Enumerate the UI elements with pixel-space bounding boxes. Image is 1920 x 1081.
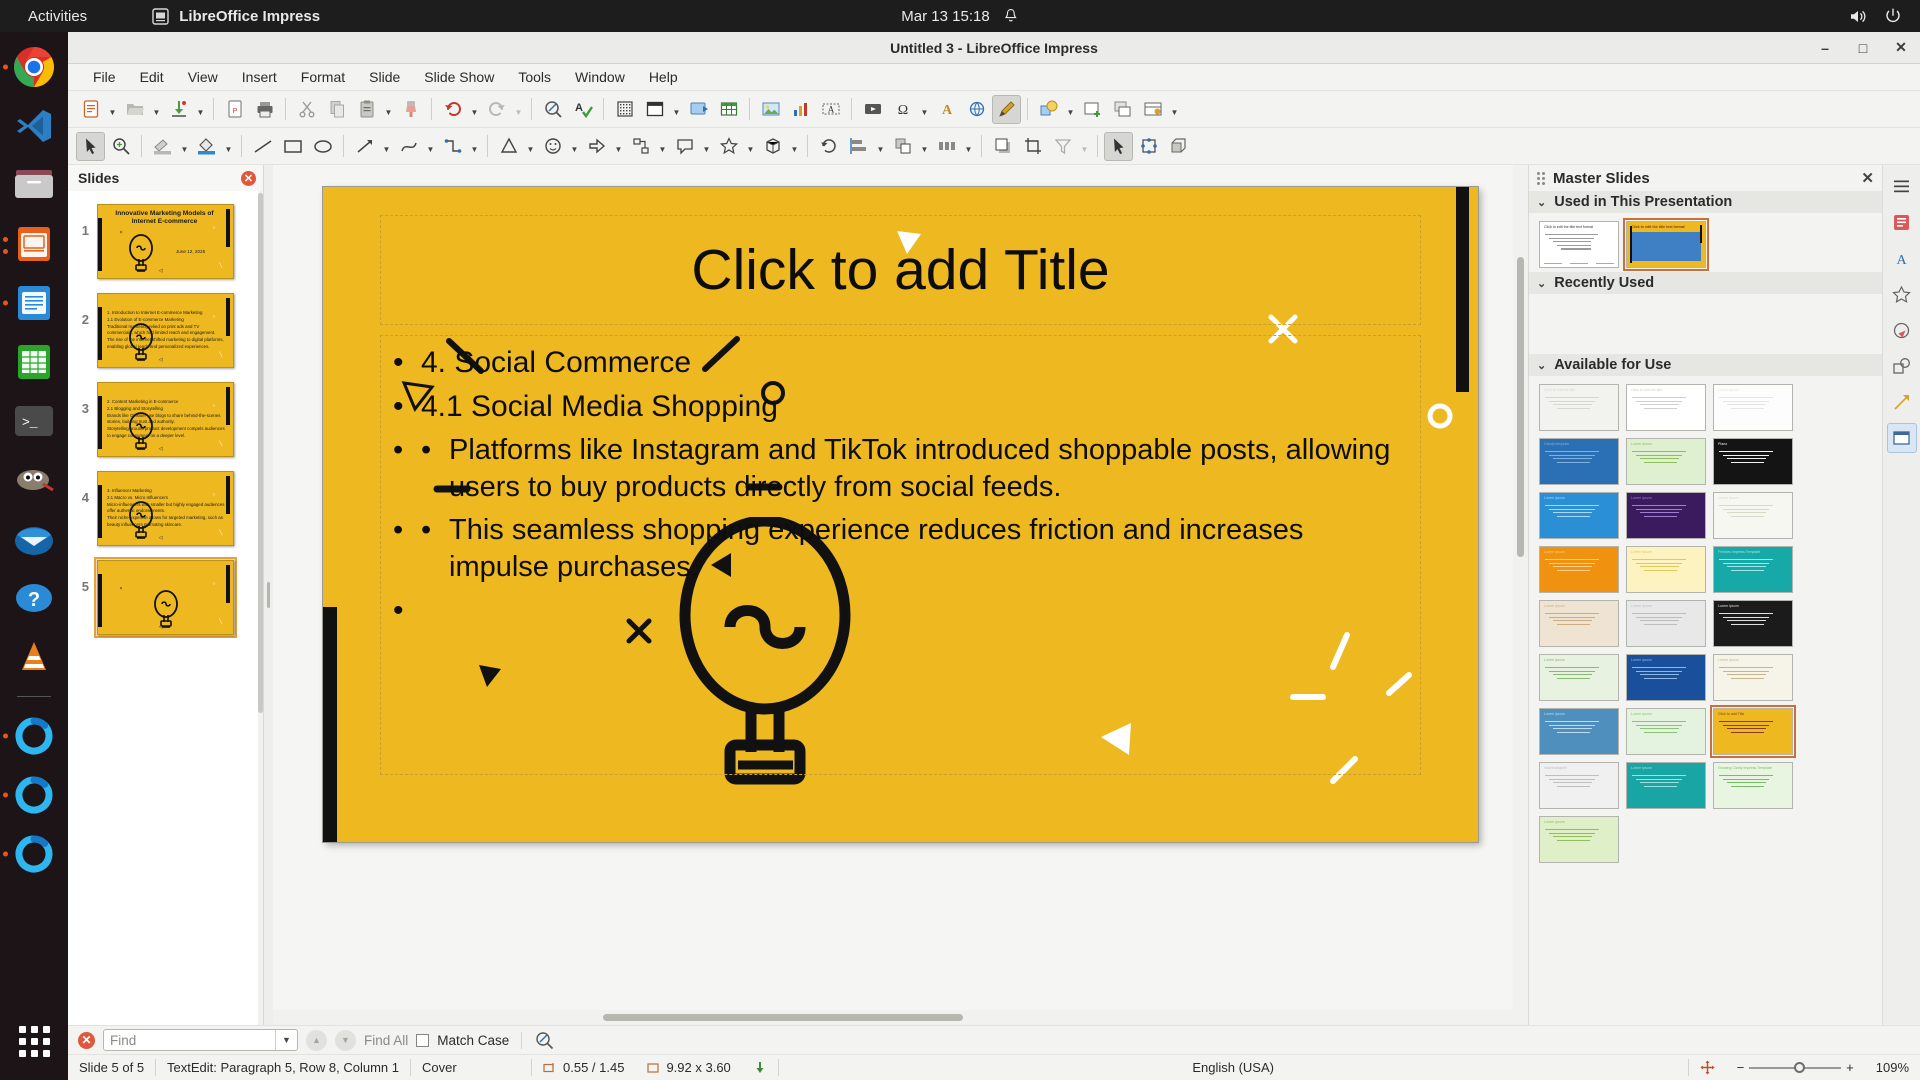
start-from-first-slide-icon[interactable] <box>684 95 713 124</box>
master-thumb-available-7[interactable]: Lorem ipsum <box>1626 492 1706 539</box>
zoom-icon[interactable] <box>106 132 135 161</box>
master-preview-lines <box>1719 613 1787 627</box>
master-label: Lorem ipsum <box>1631 604 1701 608</box>
dock-item-thunderbird[interactable] <box>9 514 59 564</box>
toggle-extrusion-icon[interactable] <box>1164 132 1193 161</box>
insert-audio-video-icon[interactable] <box>858 95 887 124</box>
3d-dropdown[interactable]: ▼ <box>788 132 801 161</box>
master-preview-lines <box>1545 613 1613 627</box>
rectangle-icon[interactable] <box>278 132 307 161</box>
new-slide-icon[interactable] <box>1078 95 1107 124</box>
master-label: Lorem ipsum <box>1631 550 1701 554</box>
menu-format[interactable]: Format <box>290 66 356 88</box>
master-label: Lorem ipsum <box>1718 496 1788 500</box>
dock-item-sync-1[interactable] <box>9 711 59 761</box>
master-label: Click to edit the title text format <box>1544 225 1614 229</box>
show-draw-functions-icon[interactable] <box>992 95 1021 124</box>
sidebar-title: Master Slides <box>1553 170 1650 187</box>
flowchart-dropdown[interactable]: ▼ <box>656 132 669 161</box>
decor-circle-icon <box>1423 399 1457 433</box>
dock-item-sync-2[interactable] <box>9 770 59 820</box>
bullet-text: 4.1 Social Media Shopping <box>421 388 1408 426</box>
sidebar-tab-rail[interactable]: A <box>1882 165 1920 1025</box>
zoom-out-button[interactable]: − <box>1737 1060 1745 1075</box>
flowchart-icon[interactable] <box>626 132 655 161</box>
export-pdf-icon[interactable]: P <box>220 95 249 124</box>
slide-thumbnail-4[interactable]: 3. Influencer Marketing 3.1 Macro vs. Mi… <box>94 468 237 549</box>
slides-list[interactable]: 1 Innovative Marketing Models of Interne… <box>68 191 263 1025</box>
master-thumb-yellow-bulb[interactable]: Click to edit the title text format <box>1626 221 1706 268</box>
master-thumb-available-18[interactable]: Lorem ipsum <box>1539 708 1619 755</box>
basic-shapes-dropdown[interactable]: ▼ <box>524 132 537 161</box>
ubuntu-dock[interactable]: >_ ? <box>0 32 68 1080</box>
window-titlebar: Untitled 3 - LibreOffice Impress – □ ✕ <box>68 32 1920 64</box>
fill-color-dropdown[interactable]: ▼ <box>222 132 235 161</box>
size-icon <box>646 1061 660 1075</box>
gnome-top-bar: Activities LibreOffice Impress Mar 13 15… <box>0 0 1920 32</box>
used-masters-grid[interactable]: Click to edit the title text format Clic… <box>1529 213 1882 272</box>
content-placeholder[interactable]: • 4. Social Commerce • 4.1 Social Media … <box>380 335 1421 775</box>
bullet-text: Platforms like Instagram and TikTok intr… <box>449 432 1408 506</box>
section-used-in-presentation[interactable]: ⌄ Used in This Presentation <box>1529 191 1882 213</box>
list-item[interactable]: 3 2. Content Marketing in E-commerce 2.1… <box>68 375 263 464</box>
filter-dropdown[interactable]: ▼ <box>1078 132 1091 161</box>
svg-text:A: A <box>1896 253 1907 268</box>
match-case-label[interactable]: Match Case <box>437 1033 509 1048</box>
master-label: Click to add Title <box>1718 712 1788 716</box>
slides-panel-title: Slides <box>78 170 119 186</box>
bullet-line-4[interactable]: • • This seamless shopping experience re… <box>393 512 1408 586</box>
slide-number: 1 <box>76 201 89 238</box>
master-thumb-available-24[interactable]: Lorem ipsum <box>1539 816 1619 863</box>
find-previous-button[interactable]: ▲ <box>306 1030 327 1051</box>
find-next-button[interactable]: ▼ <box>335 1030 356 1051</box>
master-preview-lines <box>1545 505 1613 519</box>
character-icon[interactable]: A <box>1887 243 1917 273</box>
stars-dropdown[interactable]: ▼ <box>744 132 757 161</box>
svg-text:A: A <box>941 103 952 118</box>
slides-panel-scrollbar[interactable] <box>258 191 263 1025</box>
bullet-marker: • <box>393 388 421 426</box>
paste-icon[interactable] <box>352 95 381 124</box>
drawing-toolbar[interactable]: ▼ ▼ ▼ ▼ ▼ ▼ <box>68 128 1920 165</box>
master-preview-lines <box>1719 721 1787 735</box>
bullet-marker: • <box>393 512 421 549</box>
dock-item-terminal[interactable]: >_ <box>9 396 59 446</box>
master-preview-lines <box>1545 667 1613 681</box>
arrange-icon[interactable] <box>888 132 917 161</box>
fill-color-icon[interactable] <box>192 132 221 161</box>
distribute-icon[interactable] <box>932 132 961 161</box>
master-label: Lorem ipsum <box>1631 658 1701 662</box>
master-thumb-default[interactable]: Click to edit the title text format <box>1539 221 1619 268</box>
connectors-dropdown[interactable]: ▼ <box>468 132 481 161</box>
hyperlink-icon[interactable] <box>962 95 991 124</box>
dock-item-help[interactable]: ? <box>9 573 59 623</box>
slide-counter: Slide 5 of 5 <box>68 1055 155 1081</box>
select-icon[interactable] <box>76 132 105 161</box>
section-available-for-use[interactable]: ⌄ Available for Use <box>1529 354 1882 376</box>
line-color-icon[interactable] <box>148 132 177 161</box>
master-thumb-available-6[interactable]: Lorem ipsum <box>1539 492 1619 539</box>
master-preview-lines <box>1545 829 1613 843</box>
dock-item-vlc[interactable] <box>9 632 59 682</box>
show-applications-icon <box>19 1026 50 1057</box>
distribute-dropdown[interactable]: ▼ <box>962 132 975 161</box>
stars-icon[interactable] <box>714 132 743 161</box>
document-modified-icon[interactable] <box>742 1055 778 1081</box>
master-thumb-available-17[interactable]: Lorem ipsum <box>1713 654 1793 701</box>
list-item[interactable]: 5 ×○╲◁ <box>68 553 263 642</box>
dock-item-visual-studio-code[interactable] <box>9 101 59 151</box>
dock-item-files[interactable] <box>9 160 59 210</box>
save-icon[interactable] <box>164 95 193 124</box>
master-slide-dropdown[interactable]: ▼ <box>670 95 683 124</box>
block-arrows-dropdown[interactable]: ▼ <box>612 132 625 161</box>
chevron-down-icon: ⌄ <box>1537 277 1546 290</box>
thumb-title: Innovative Marketing Models of Internet … <box>106 210 223 226</box>
image-icon[interactable] <box>756 95 785 124</box>
callout-dropdown[interactable]: ▼ <box>700 132 713 161</box>
menu-insert[interactable]: Insert <box>231 66 288 88</box>
master-thumb-available-11[interactable]: Freshes Impress Template <box>1713 546 1793 593</box>
available-masters-grid[interactable]: Click to edit the titleClick to edit the… <box>1529 376 1882 867</box>
symbol-shapes-dropdown[interactable]: ▼ <box>568 132 581 161</box>
maximize-button[interactable]: □ <box>1852 37 1874 59</box>
list-item[interactable]: 1 Innovative Marketing Models of Interne… <box>68 197 263 286</box>
master-preview-lines <box>1719 505 1787 519</box>
svg-text:A: A <box>827 105 834 115</box>
basic-shapes-icon[interactable] <box>494 132 523 161</box>
master-label: Lorem ipsum <box>1544 604 1614 608</box>
sidebar[interactable]: Master Slides ✕ ⌄ Used in This Presentat… <box>1528 165 1920 1025</box>
slide-number: 5 <box>76 557 89 594</box>
svg-text:P: P <box>232 108 237 115</box>
master-thumb-available-19[interactable]: Lorem ipsum <box>1626 708 1706 755</box>
gallery-icon[interactable] <box>1887 279 1917 309</box>
line-icon[interactable] <box>248 132 277 161</box>
master-preview-lines <box>1545 721 1613 735</box>
dock-item-libreoffice-calc[interactable] <box>9 337 59 387</box>
lightbulb-icon <box>124 409 158 453</box>
master-label: Lorem ipsum <box>1544 820 1614 824</box>
zoom-track[interactable] <box>1749 1067 1841 1069</box>
standard-toolbar[interactable]: ▼ ▼ ▼ P ▼ ▼ <box>68 91 1920 128</box>
master-thumb-available-3[interactable]: Candy template <box>1539 438 1619 485</box>
notification-bell-icon[interactable] <box>1004 8 1019 24</box>
bullet-line-5-empty[interactable]: • <box>393 592 1408 630</box>
dock-item-libreoffice-impress[interactable] <box>9 219 59 269</box>
dock-item-gimp[interactable] <box>9 455 59 505</box>
animation-icon[interactable] <box>1887 387 1917 417</box>
copy-icon[interactable] <box>322 95 351 124</box>
thumb-date: June 12, 2025 <box>176 249 205 254</box>
menu-view[interactable]: View <box>177 66 229 88</box>
duplicate-slide-icon[interactable] <box>1108 95 1137 124</box>
special-character-dropdown[interactable]: ▼ <box>918 95 931 124</box>
3d-objects-icon[interactable] <box>758 132 787 161</box>
new-document-dropdown[interactable]: ▼ <box>106 95 119 124</box>
object-size-cell: 9.92 x 3.60 <box>635 1055 741 1081</box>
master-preview-lines <box>1545 451 1613 465</box>
textbox-icon[interactable]: A <box>816 95 845 124</box>
slide-canvas[interactable]: Click to add Title • 4. Social Commerce … <box>323 187 1478 842</box>
bullet-line-3[interactable]: • • Platforms like Instagram and TikTok … <box>393 432 1408 506</box>
list-item[interactable]: 4 3. Influencer Marketing 3.1 Macro vs. … <box>68 464 263 553</box>
lightbulb-icon <box>124 231 158 275</box>
menu-edit[interactable]: Edit <box>129 66 175 88</box>
redo-dropdown[interactable]: ▼ <box>512 95 525 124</box>
section-recently-used[interactable]: ⌄ Recently Used <box>1529 272 1882 294</box>
filter-icon[interactable] <box>1048 132 1077 161</box>
align-objects-icon[interactable] <box>844 132 873 161</box>
menu-window[interactable]: Window <box>564 66 636 88</box>
vertical-scrollbar[interactable] <box>1513 165 1528 1010</box>
window-title: Untitled 3 - LibreOffice Impress <box>890 40 1098 56</box>
slide-thumbnail-5-selected[interactable]: ×○╲◁ <box>94 557 237 638</box>
match-case-checkbox[interactable] <box>416 1034 429 1047</box>
master-thumb-available-22[interactable]: Lorem ipsum <box>1626 762 1706 809</box>
master-preview-lines <box>1545 397 1613 411</box>
sidebar-header: Master Slides ✕ <box>1529 165 1882 191</box>
panel-splitter[interactable] <box>264 165 273 1025</box>
shapes-icon[interactable] <box>1034 95 1063 124</box>
bullet-marker: • <box>393 592 421 630</box>
open-document-dropdown[interactable]: ▼ <box>150 95 163 124</box>
lines-and-arrows-dropdown[interactable]: ▼ <box>380 132 393 161</box>
rotate-icon[interactable] <box>814 132 843 161</box>
active-app-indicator[interactable]: LibreOffice Impress <box>152 8 320 25</box>
connectors-icon[interactable] <box>438 132 467 161</box>
master-thumb-available-14[interactable]: Lorem ipsum <box>1713 600 1793 647</box>
zoom-slider[interactable]: − + <box>1726 1055 1865 1081</box>
master-thumb-available-5[interactable]: Piano <box>1713 438 1793 485</box>
shapes-panel-icon[interactable] <box>1887 351 1917 381</box>
drag-grip-icon[interactable] <box>1537 172 1545 185</box>
slide-thumbnail-2[interactable]: 1. Introduction to Internet E-commerce M… <box>94 290 237 371</box>
close-icon[interactable]: ✕ <box>1861 169 1874 187</box>
bullet-line-2[interactable]: • 4.1 Social Media Shopping <box>393 388 1408 426</box>
symbol-shapes-icon[interactable] <box>538 132 567 161</box>
shapes-dropdown[interactable]: ▼ <box>1064 95 1077 124</box>
bullet-line-1[interactable]: • 4. Social Commerce <box>393 344 1408 382</box>
find-replace-icon[interactable] <box>538 95 567 124</box>
slide-properties-dropdown[interactable]: ▼ <box>1168 95 1181 124</box>
properties-icon[interactable] <box>1887 207 1917 237</box>
arrange-dropdown[interactable]: ▼ <box>918 132 931 161</box>
master-preview-lines <box>1632 397 1700 411</box>
undo-icon[interactable] <box>438 95 467 124</box>
svg-text:A: A <box>575 102 583 114</box>
thumb-line: 2. Content Marketing in E-commerce <box>107 399 225 406</box>
decor-bar-left <box>323 607 337 842</box>
master-preview-lines <box>1719 451 1787 465</box>
fit-slide-icon[interactable] <box>1689 1055 1726 1081</box>
bullet-marker: • <box>393 344 421 382</box>
slide-number: 4 <box>76 468 89 505</box>
menu-help[interactable]: Help <box>638 66 689 88</box>
bullet-marker: • <box>393 432 421 469</box>
master-label: Lorem ipsum <box>1544 496 1614 500</box>
zoom-knob[interactable] <box>1794 1062 1805 1073</box>
close-icon[interactable]: ✕ <box>241 171 256 186</box>
master-preview-lines <box>1719 667 1787 681</box>
block-arrows-icon[interactable] <box>582 132 611 161</box>
title-placeholder-text: Click to add Title <box>691 237 1109 303</box>
menu-tools[interactable]: Tools <box>507 66 562 88</box>
close-icon[interactable]: ✕ <box>78 1032 95 1049</box>
svg-text:>_: >_ <box>22 415 38 430</box>
master-preview-lines <box>1632 775 1700 789</box>
find-toolbar[interactable]: ✕ Find ▼ ▲ ▼ Find All Match Case <box>68 1025 1920 1054</box>
master-preview-lines <box>1632 559 1700 573</box>
align-dropdown[interactable]: ▼ <box>874 132 887 161</box>
shadow-icon[interactable] <box>988 132 1017 161</box>
master-thumb-available-9[interactable]: Lorem ipsum <box>1539 546 1619 593</box>
clone-formatting-icon[interactable] <box>396 95 425 124</box>
show-applications-button[interactable] <box>9 1016 59 1066</box>
master-label: Click to edit the title <box>1544 388 1614 392</box>
master-label: Click to edit the title <box>1631 388 1701 392</box>
slide-edit-area[interactable]: Click to add Title • 4. Social Commerce … <box>273 165 1528 1025</box>
save-dropdown[interactable]: ▼ <box>194 95 207 124</box>
master-label: Lorem ipsum <box>1718 604 1788 608</box>
master-thumb-available-2[interactable]: Lorem ipsum <box>1713 384 1793 431</box>
system-tray[interactable] <box>1849 7 1902 25</box>
glue-points-icon[interactable] <box>1134 132 1163 161</box>
list-item[interactable]: 2 1. Introduction to Internet E-commerce… <box>68 286 263 375</box>
sub-bullet-marker: • <box>421 432 449 469</box>
zoom-level[interactable]: 109% <box>1865 1055 1920 1081</box>
display-grid-icon[interactable] <box>610 95 639 124</box>
section-label: Recently Used <box>1554 275 1654 291</box>
master-thumb-available-23[interactable]: Growing Clarity Impress Template <box>1713 762 1793 809</box>
slide-number: 2 <box>76 290 89 327</box>
master-label: Lorem ipsum <box>1544 550 1614 554</box>
master-thumb-available-1[interactable]: Click to edit the title <box>1626 384 1706 431</box>
activities-button[interactable]: Activities <box>28 8 87 25</box>
lightbulb-icon <box>124 320 158 364</box>
master-thumb-available-13[interactable]: Lorem ipsum <box>1626 600 1706 647</box>
master-slides-deck[interactable]: Master Slides ✕ ⌄ Used in This Presentat… <box>1529 165 1882 1025</box>
slide-properties-icon[interactable] <box>1138 95 1167 124</box>
close-button[interactable]: ✕ <box>1890 37 1912 59</box>
menu-bar[interactable]: File Edit View Insert Format Slide Slide… <box>68 64 1920 91</box>
master-preview-lines <box>1545 559 1613 573</box>
crop-icon[interactable] <box>1018 132 1047 161</box>
master-label: Candy template <box>1544 442 1614 446</box>
sidebar-settings-icon[interactable] <box>1887 171 1917 201</box>
dock-item-libreoffice-writer[interactable] <box>9 278 59 328</box>
master-thumb-available-16[interactable]: Lorem ipsum <box>1626 654 1706 701</box>
master-thumb-available-15[interactable]: Lorem ipsum <box>1539 654 1619 701</box>
navigator-icon[interactable] <box>1887 315 1917 345</box>
master-label: Click to edit the title text format <box>1631 225 1701 229</box>
slide-number: 3 <box>76 379 89 416</box>
fontwork-icon[interactable]: A <box>932 95 961 124</box>
ellipse-icon[interactable] <box>308 132 337 161</box>
line-color-dropdown[interactable]: ▼ <box>178 132 191 161</box>
special-character-icon[interactable]: Ω <box>888 95 917 124</box>
curves-dropdown[interactable]: ▼ <box>424 132 437 161</box>
master-preview-lines <box>1632 667 1700 681</box>
horizontal-scrollbar[interactable] <box>273 1010 1528 1025</box>
master-thumb-available-4[interactable]: Lorem ipsum <box>1626 438 1706 485</box>
lines-and-arrows-icon[interactable] <box>350 132 379 161</box>
master-slide-icon[interactable] <box>640 95 669 124</box>
search-placeholder: Find <box>110 1033 136 1048</box>
table-icon[interactable] <box>714 95 743 124</box>
master-preview-lines <box>1719 559 1787 573</box>
redo-icon[interactable] <box>482 95 511 124</box>
open-document-icon[interactable] <box>120 95 149 124</box>
dock-separator <box>17 696 51 697</box>
language-status[interactable]: English (USA) <box>779 1055 1688 1081</box>
paste-dropdown[interactable]: ▼ <box>382 95 395 124</box>
master-thumb-available-12[interactable]: Lorem ipsum <box>1539 600 1619 647</box>
master-slides-panel-icon[interactable] <box>1887 423 1917 453</box>
menu-file[interactable]: File <box>82 66 127 88</box>
dock-item-google-chrome[interactable] <box>9 42 59 92</box>
object-size-value: 9.92 x 3.60 <box>666 1060 730 1075</box>
title-placeholder[interactable]: Click to add Title <box>380 215 1421 325</box>
master-label: Lorem ipsum <box>1544 712 1614 716</box>
dock-item-sync-3[interactable] <box>9 829 59 879</box>
master-label: Lorem ipsum <box>1718 388 1788 392</box>
volume-icon[interactable] <box>1849 8 1868 25</box>
curves-and-polygons-icon[interactable] <box>394 132 423 161</box>
thumb-line: 1. Introduction to Internet E-commerce M… <box>107 310 225 317</box>
find-all-button[interactable]: Find All <box>364 1033 408 1048</box>
master-thumb-available-21[interactable]: Nachhaltigkeit <box>1539 762 1619 809</box>
find-and-replace-icon[interactable] <box>534 1030 554 1050</box>
slide-thumbnail-1[interactable]: Innovative Marketing Models of Internet … <box>94 201 237 282</box>
master-thumb-available-20[interactable]: Click to add Title <box>1713 708 1793 755</box>
undo-dropdown[interactable]: ▼ <box>468 95 481 124</box>
new-document-icon[interactable] <box>76 95 105 124</box>
master-thumb-available-10[interactable]: Lorem ipsum <box>1626 546 1706 593</box>
slides-panel[interactable]: Slides ✕ 1 Innovative Marketing Models o… <box>68 165 264 1025</box>
slide-thumbnail-3[interactable]: 2. Content Marketing in E-commerce 2.1 B… <box>94 379 237 460</box>
master-preview-lines <box>1545 775 1613 789</box>
points-icon[interactable] <box>1104 132 1133 161</box>
clock-area[interactable]: Mar 13 15:18 <box>901 8 1018 25</box>
bullet-text: 4. Social Commerce <box>421 344 1408 382</box>
impress-app-icon <box>152 8 169 25</box>
spelling-icon[interactable]: A <box>568 95 597 124</box>
search-input[interactable]: Find ▼ <box>103 1029 298 1051</box>
minimize-button[interactable]: – <box>1814 37 1836 59</box>
menu-slide[interactable]: Slide <box>358 66 411 88</box>
master-label: Lorem ipsum <box>1718 658 1788 662</box>
lightbulb-icon <box>149 587 183 631</box>
sub-bullet-marker: • <box>421 512 449 549</box>
chart-icon[interactable] <box>786 95 815 124</box>
chevron-down-icon[interactable]: ▼ <box>275 1030 297 1050</box>
power-icon[interactable] <box>1884 7 1902 25</box>
thumb-line: 3. Influencer Marketing <box>107 488 225 495</box>
master-label: Lorem ipsum <box>1631 442 1701 446</box>
print-icon[interactable] <box>250 95 279 124</box>
master-thumb-available-0[interactable]: Click to edit the title <box>1539 384 1619 431</box>
cut-icon[interactable] <box>292 95 321 124</box>
callout-shapes-icon[interactable] <box>670 132 699 161</box>
master-label: Piano <box>1718 442 1788 446</box>
zoom-in-button[interactable]: + <box>1846 1060 1854 1075</box>
master-thumb-available-8[interactable]: Lorem ipsum <box>1713 492 1793 539</box>
menu-slide-show[interactable]: Slide Show <box>413 66 505 88</box>
lightbulb-icon <box>124 498 158 542</box>
